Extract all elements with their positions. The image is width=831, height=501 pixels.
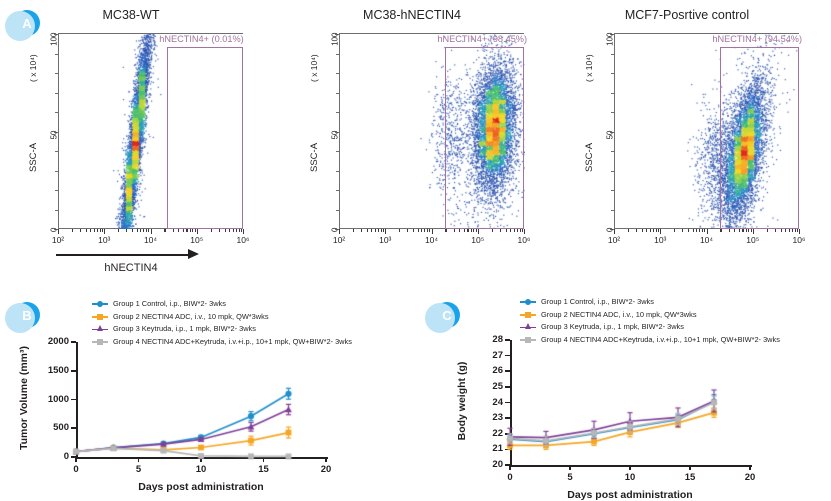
x-minor-tick [517,229,518,232]
y-minor-tick [336,151,339,152]
x-minor-tick [241,229,242,232]
x-tick-mark [197,229,198,234]
x-minor-tick [399,229,400,232]
x-tick-mark [753,229,754,234]
x-tick-label: 10⁵ [465,235,491,245]
x-minor-tick [413,229,414,232]
x-minor-tick [642,229,643,232]
x-tick-mark [614,229,615,234]
y-axis-title: SSC-A [28,143,39,172]
x-minor-tick [418,229,419,232]
x-tick-label: 10⁴ [419,235,445,245]
x-minor-tick [375,229,376,232]
x-minor-tick [118,229,119,232]
x-minor-tick [219,229,220,232]
x-tick-mark [243,229,244,234]
y-minor-tick [55,93,58,94]
x-minor-tick [739,229,740,232]
x-minor-tick [459,229,460,232]
x-tick-label: 10³ [372,235,398,245]
x-minor-tick [378,229,379,232]
x-tick-mark [707,229,708,234]
x-minor-tick [164,229,165,232]
x-minor-tick [126,229,127,232]
x-minor-tick [102,229,103,232]
x-tick-mark [524,229,525,234]
x-minor-tick [795,229,796,232]
x-tick-mark [151,229,152,234]
flow-plot-1: MC38-WT050100( x 10⁴)SSC-A10²10³10⁴10⁵10… [0,0,262,285]
x-minor-tick [789,229,790,232]
y-tick-label: 100 [50,33,59,55]
hnectin4-positive-gate[interactable] [445,47,524,229]
hnectin4-positive-gate[interactable] [167,47,243,229]
x-minor-tick [510,229,511,232]
y-minor-tick [611,190,614,191]
x-minor-tick [427,229,428,232]
x-tick-label: 10⁶ [230,235,256,245]
x-minor-tick [424,229,425,232]
x-minor-tick [183,229,184,232]
x-minor-tick [72,229,73,232]
x-minor-tick [646,229,647,232]
x-minor-tick [178,229,179,232]
y-axis-title: SSC-A [309,143,320,172]
x-minor-tick [132,229,133,232]
x-minor-tick [628,229,629,232]
gate-label: hNECTIN4+ (94.54%) [712,34,802,44]
y-minor-tick [611,73,614,74]
x-minor-tick [94,229,95,232]
arrow-head-icon [188,249,199,259]
x-minor-tick [236,229,237,232]
x-minor-tick [688,229,689,232]
x-minor-tick [383,229,384,232]
x-minor-tick [371,229,372,232]
x-minor-tick [471,229,472,232]
gate-label: hNECTIN4+ (0.01%) [159,34,244,44]
x-minor-tick [97,229,98,232]
x-minor-tick [239,229,240,232]
x-minor-tick [186,229,187,232]
x-minor-tick [146,229,147,232]
y-minor-tick [55,151,58,152]
x-tick-mark [478,229,479,234]
panel-b-tumor-volume: B Group 1 Control, i.p., BIW*2- 3wksGrou… [0,290,420,490]
y-minor-tick [55,54,58,55]
x-minor-tick [702,229,703,232]
x-tick-label: 10⁵ [184,235,210,245]
y-minor-tick [336,93,339,94]
x-minor-tick [720,229,721,232]
x-minor-tick [650,229,651,232]
x-minor-tick [367,229,368,232]
x-minor-tick [381,229,382,232]
chart-series-canvas [420,290,831,490]
x-minor-tick [467,229,468,232]
x-minor-tick [211,229,212,232]
gate-label: hNECTIN4+ (98.45%) [437,34,527,44]
x-minor-tick [653,229,654,232]
y-minor-tick [336,190,339,191]
x-minor-tick [445,229,446,232]
y-axis-multiplier: ( x 10⁴) [28,54,38,82]
x-minor-tick [767,229,768,232]
x-minor-tick [233,229,234,232]
x-tick-label: 10² [326,235,352,245]
x-minor-tick [407,229,408,232]
y-tick-label: 100 [606,33,615,55]
x-axis-title: hNECTIN4 [56,262,206,274]
x-minor-tick [192,229,193,232]
x-tick-label: 10³ [91,235,117,245]
x-minor-tick [781,229,782,232]
y-minor-tick [55,73,58,74]
y-minor-tick [611,112,614,113]
x-minor-tick [729,229,730,232]
x-minor-tick [514,229,515,232]
x-minor-tick [80,229,81,232]
x-axis-arrow [56,249,206,261]
x-minor-tick [674,229,675,232]
y-minor-tick [336,171,339,172]
x-minor-tick [148,229,149,232]
y-axis-title: SSC-A [584,143,595,172]
x-minor-tick [143,229,144,232]
arrow-line [56,254,194,256]
x-minor-tick [792,229,793,232]
x-minor-tick [520,229,521,232]
x-minor-tick [195,229,196,232]
x-tick-mark [432,229,433,234]
x-minor-tick [173,229,174,232]
x-minor-tick [696,229,697,232]
y-tick-label: 50 [50,130,59,152]
chart-series-canvas [0,290,420,490]
x-minor-tick [86,229,87,232]
x-minor-tick [506,229,507,232]
x-minor-tick [746,229,747,232]
x-tick-label: 10⁶ [786,235,812,245]
y-minor-tick [611,54,614,55]
panel-badge-a: A [14,10,40,36]
x-minor-tick [636,229,637,232]
y-minor-tick [336,73,339,74]
flow-plot-2: MC38-hNECTIN4050100( x 10⁴)SSC-A10²10³10… [281,0,543,285]
x-minor-tick [699,229,700,232]
x-minor-tick [522,229,523,232]
x-tick-label: 10⁴ [138,235,164,245]
y-minor-tick [55,190,58,191]
x-minor-tick [137,229,138,232]
x-minor-tick [225,229,226,232]
y-minor-tick [336,112,339,113]
x-tick-label: 10³ [647,235,673,245]
y-tick-label: 50 [331,130,340,152]
y-minor-tick [55,210,58,211]
x-axis-title: Days post administration [510,489,750,501]
x-minor-tick [500,229,501,232]
panel-a-flow-cytometry: A MC38-WT050100( x 10⁴)SSC-A10²10³10⁴10⁵… [0,0,831,285]
y-minor-tick [611,151,614,152]
x-minor-tick [361,229,362,232]
x-minor-tick [492,229,493,232]
x-minor-tick [656,229,657,232]
x-minor-tick [429,229,430,232]
x-minor-tick [734,229,735,232]
flow-plot-title: MCF7-Posrtive control [556,8,818,22]
panel-badge-c: C [434,302,460,328]
y-minor-tick [55,171,58,172]
y-tick-label: 100 [331,33,340,55]
x-minor-tick [785,229,786,232]
flow-plot-3: MCF7-Posrtive control050100( x 10⁴)SSC-A… [556,0,818,285]
x-tick-mark [660,229,661,234]
y-tick-label: 50 [606,130,615,152]
x-tick-mark [104,229,105,234]
x-minor-tick [797,229,798,232]
y-axis-multiplier: ( x 10⁴) [584,54,594,82]
x-minor-tick [473,229,474,232]
x-minor-tick [704,229,705,232]
x-minor-tick [190,229,191,232]
x-minor-tick [90,229,91,232]
y-minor-tick [611,93,614,94]
x-minor-tick [229,229,230,232]
x-tick-label: 10⁶ [511,235,537,245]
y-minor-tick [336,54,339,55]
hnectin4-positive-gate[interactable] [720,47,799,229]
x-tick-label: 10⁵ [740,235,766,245]
x-minor-tick [693,229,694,232]
y-minor-tick [336,210,339,211]
x-tick-label: 10² [601,235,627,245]
x-minor-tick [682,229,683,232]
y-minor-tick [611,171,614,172]
x-minor-tick [751,229,752,232]
x-minor-tick [476,229,477,232]
y-minor-tick [611,210,614,211]
panel-c-body-weight: C Group 1 Control, i.p., BIW*2- 3wksGrou… [420,290,831,490]
x-tick-mark [799,229,800,234]
x-minor-tick [748,229,749,232]
x-minor-tick [353,229,354,232]
x-tick-mark [385,229,386,234]
x-minor-tick [421,229,422,232]
x-minor-tick [454,229,455,232]
y-minor-tick [55,112,58,113]
panel-badge-b: B [14,302,40,328]
x-tick-label: 10² [45,235,71,245]
x-tick-mark [339,229,340,234]
x-minor-tick [140,229,141,232]
x-minor-tick [658,229,659,232]
x-tick-label: 10⁴ [694,235,720,245]
x-tick-mark [58,229,59,234]
y-axis-multiplier: ( x 10⁴) [309,54,319,82]
x-minor-tick [775,229,776,232]
x-minor-tick [742,229,743,232]
x-minor-tick [100,229,101,232]
flow-plot-title: MC38-hNECTIN4 [281,8,543,22]
x-minor-tick [464,229,465,232]
